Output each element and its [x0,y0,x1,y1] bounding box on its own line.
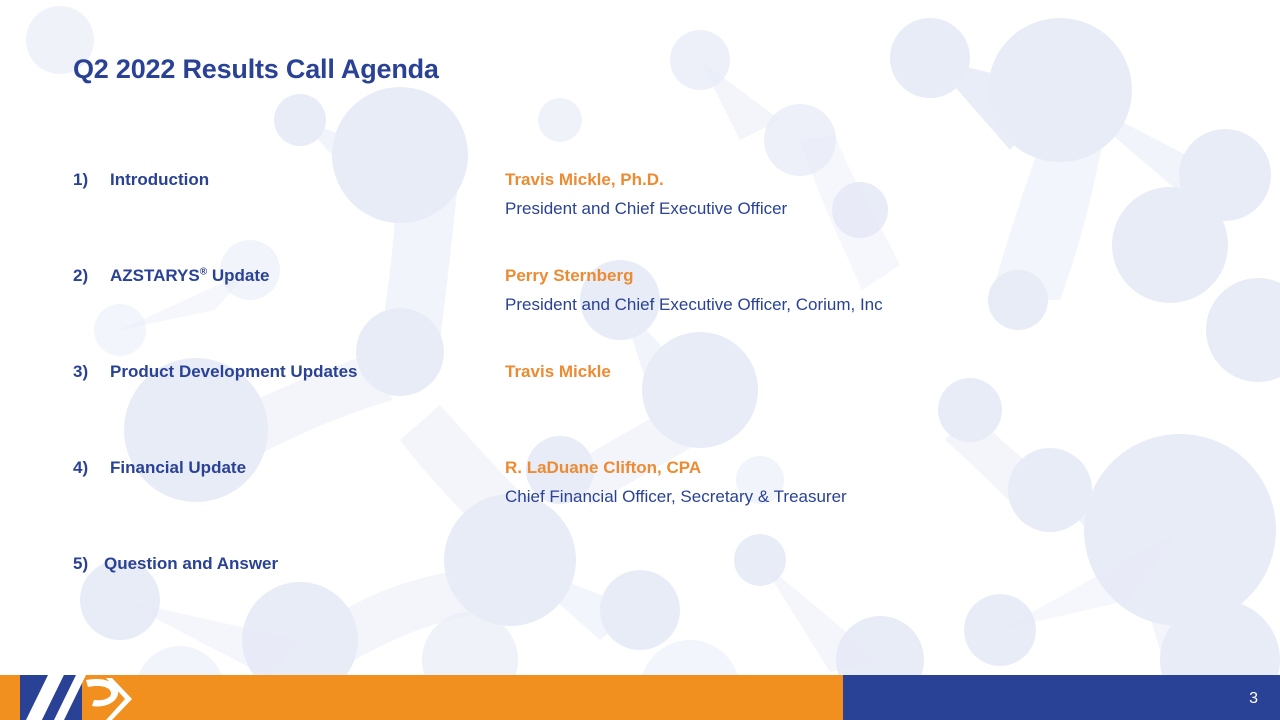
agenda-speaker-name: Perry Sternberg [505,266,634,286]
agenda-item-label: Product Development Updates [110,362,358,382]
agenda-speaker-name: Travis Mickle [505,362,611,382]
agenda-item-number: 3) [73,362,88,382]
footer-navy-bar [843,675,1280,720]
agenda-item-number: 1) [73,170,88,190]
agenda-item-label: AZSTARYS® Update [110,266,269,286]
company-logo [20,660,160,720]
agenda-item-number: 2) [73,266,88,286]
page-number: 3 [1249,690,1258,708]
slide-footer [0,675,1280,720]
agenda-item-label: Financial Update [110,458,246,478]
agenda-speaker-title: President and Chief Executive Officer, C… [505,295,883,315]
agenda-item-label: Introduction [110,170,209,190]
agenda-item-label-suffix: Update [207,266,269,285]
registered-mark-icon: ® [200,266,207,277]
agenda-speaker-title: President and Chief Executive Officer [505,199,787,219]
agenda-list: 1) Introduction Travis Mickle, Ph.D. Pre… [0,0,1280,660]
agenda-item-label-text: AZSTARYS [110,266,200,285]
agenda-speaker-name: Travis Mickle, Ph.D. [505,170,664,190]
agenda-item-number: 5) [73,554,88,574]
agenda-speaker-name: R. LaDuane Clifton, CPA [505,458,701,478]
agenda-speaker-title: Chief Financial Officer, Secretary & Tre… [505,487,847,507]
presentation-slide: Q2 2022 Results Call Agenda 1) Introduct… [0,0,1280,720]
agenda-item-label: Question and Answer [104,554,278,574]
agenda-item-number: 4) [73,458,88,478]
